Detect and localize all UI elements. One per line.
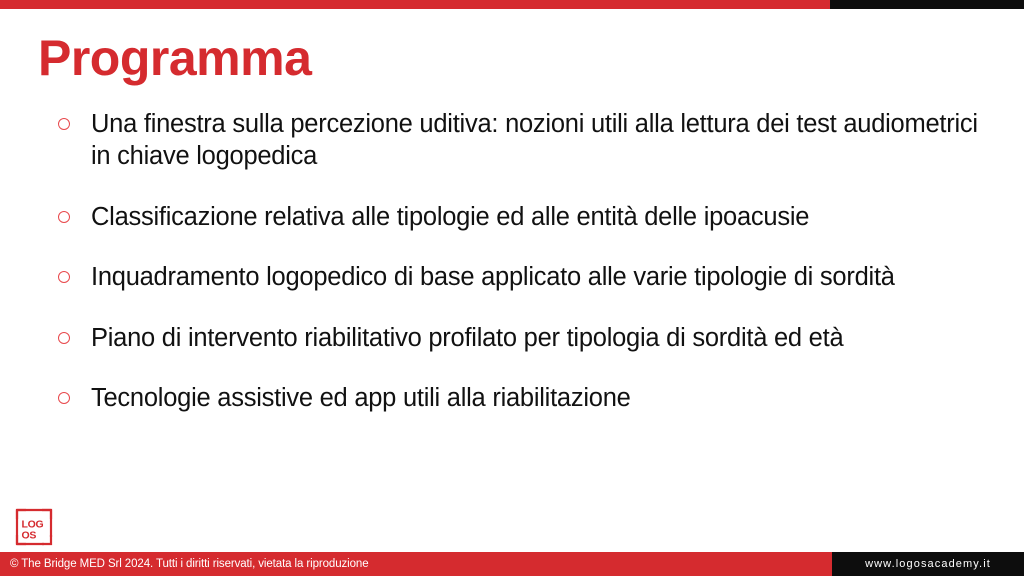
list-item: Tecnologie assistive ed app utili alla r… (58, 382, 978, 414)
circle-bullet-icon (58, 271, 70, 283)
program-bullet-list: Una finestra sulla percezione uditiva: n… (58, 108, 978, 414)
circle-bullet-icon (58, 118, 70, 130)
logos-logo-icon: LOG OS (14, 507, 54, 547)
logo-text-line2: OS (22, 530, 37, 542)
top-accent-bar-black-segment (830, 0, 1024, 9)
list-item: Inquadramento logopedico di base applica… (58, 261, 978, 293)
footer-copyright-section: © The Bridge MED Srl 2024. Tutti i dirit… (0, 552, 832, 576)
list-item-label: Classificazione relativa alle tipologie … (91, 201, 978, 233)
footer-bar: © The Bridge MED Srl 2024. Tutti i dirit… (0, 552, 1024, 576)
slide-title: Programma (38, 32, 311, 85)
list-item-label: Tecnologie assistive ed app utili alla r… (91, 382, 978, 414)
footer-website-text: www.logosacademy.it (865, 558, 991, 570)
list-item-label: Piano di intervento riabilitativo profil… (91, 322, 978, 354)
footer-website-section: www.logosacademy.it (832, 552, 1024, 576)
circle-bullet-icon (58, 211, 70, 223)
list-item: Classificazione relativa alle tipologie … (58, 201, 978, 233)
circle-bullet-icon (58, 392, 70, 404)
footer-copyright-text: © The Bridge MED Srl 2024. Tutti i dirit… (0, 558, 369, 570)
circle-bullet-icon (58, 332, 70, 344)
top-accent-bar (0, 0, 1024, 9)
list-item-label: Inquadramento logopedico di base applica… (91, 261, 978, 293)
list-item: Piano di intervento riabilitativo profil… (58, 322, 978, 354)
list-item-label: Una finestra sulla percezione uditiva: n… (91, 108, 978, 173)
top-accent-bar-red-segment (0, 0, 830, 9)
list-item: Una finestra sulla percezione uditiva: n… (58, 108, 978, 173)
